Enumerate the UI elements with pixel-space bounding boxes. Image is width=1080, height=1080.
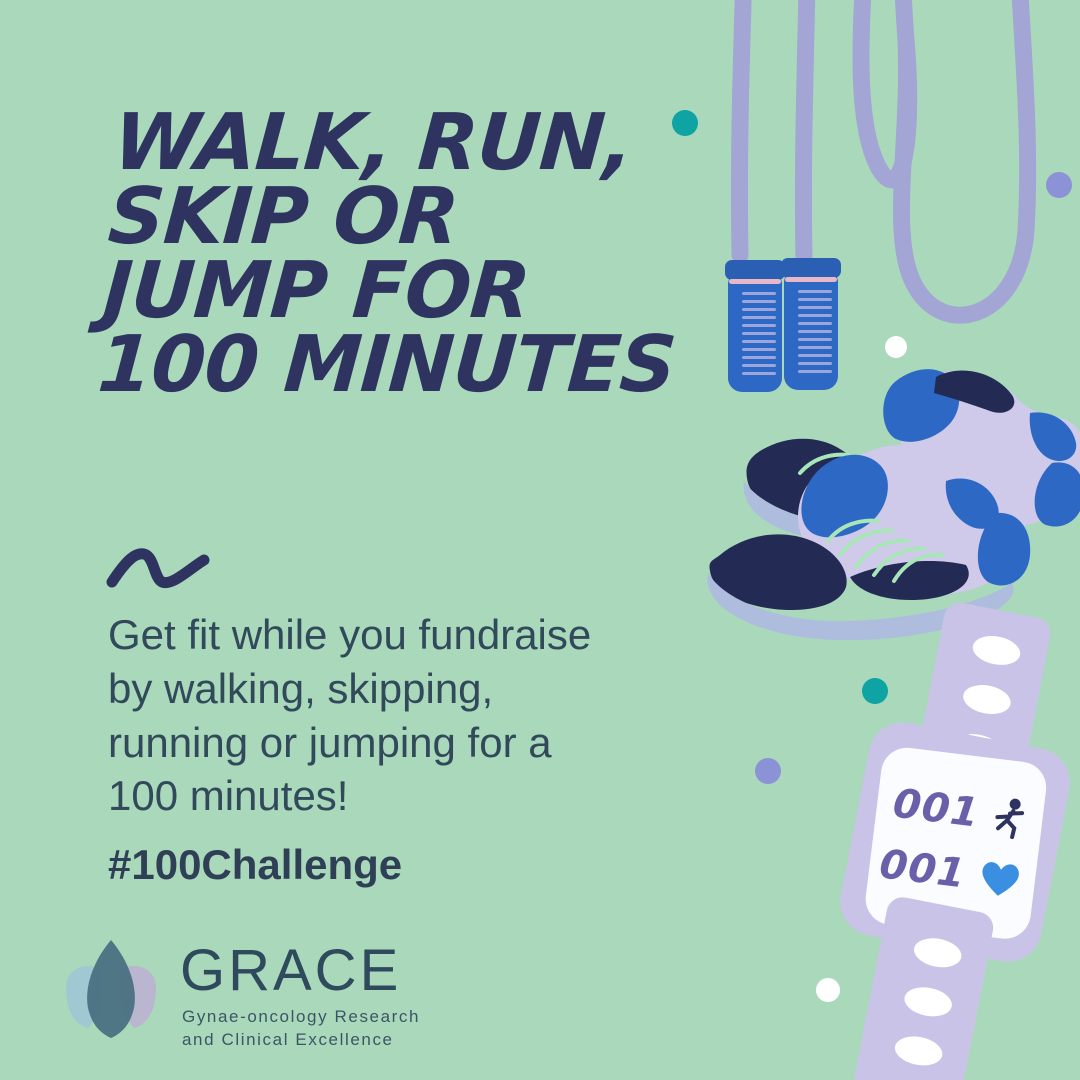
white-dot-lower <box>816 978 840 1002</box>
headline-line-3: jump for <box>101 254 746 328</box>
logo-tagline: Gynae-oncology Research and Clinical Exc… <box>182 1006 420 1052</box>
body-line-1: Get fit while you fundraise <box>108 608 688 662</box>
strap-hole <box>970 632 1022 669</box>
strap-hole <box>902 984 954 1021</box>
periwinkle-dot-right <box>1046 172 1072 198</box>
teal-dot-middle <box>862 678 888 704</box>
handle-cap <box>781 258 841 278</box>
heart-value: 001 <box>877 841 968 897</box>
running-person-icon <box>989 794 1028 840</box>
body-line-3: running or jumping for a <box>108 716 688 770</box>
hashtag: #100Challenge <box>108 841 402 889</box>
brush-zigzag-accent <box>104 538 214 598</box>
strap-hole <box>961 681 1013 718</box>
body-line-2: by walking, skipping, <box>108 662 688 716</box>
strap-hole <box>911 934 963 971</box>
handle-pink-band <box>785 277 837 282</box>
steps-value: 001 <box>891 780 982 836</box>
body-line-4: 100 minutes! <box>108 769 688 823</box>
white-dot-upper <box>885 336 907 358</box>
logo-tagline-line-2: and Clinical Excellence <box>182 1029 420 1052</box>
headline: Walk, run, skip or jump for 100 minutes <box>96 106 757 402</box>
logo-wordmark: GRACE <box>180 942 401 1000</box>
grace-lotus-petal-logo-icon <box>56 930 166 1045</box>
periwinkle-dot-middle <box>755 758 781 784</box>
strap-hole <box>892 1033 944 1070</box>
headline-line-4: 100 minutes <box>96 328 741 402</box>
poster-canvas: 001 001 <box>0 0 1080 1080</box>
headline-line-1: Walk, run, <box>111 106 756 180</box>
body-copy: Get fit while you fundraise by walking, … <box>108 608 688 823</box>
watch-reading-steps: 001 <box>891 780 1028 842</box>
headline-line-2: skip or <box>106 180 751 254</box>
heart-icon <box>975 856 1024 901</box>
watch-reading-heart: 001 <box>877 841 1024 904</box>
logo-tagline-line-1: Gynae-oncology Research <box>182 1006 420 1029</box>
grace-logo: GRACE Gynae-oncology Research and Clinic… <box>56 930 456 1050</box>
